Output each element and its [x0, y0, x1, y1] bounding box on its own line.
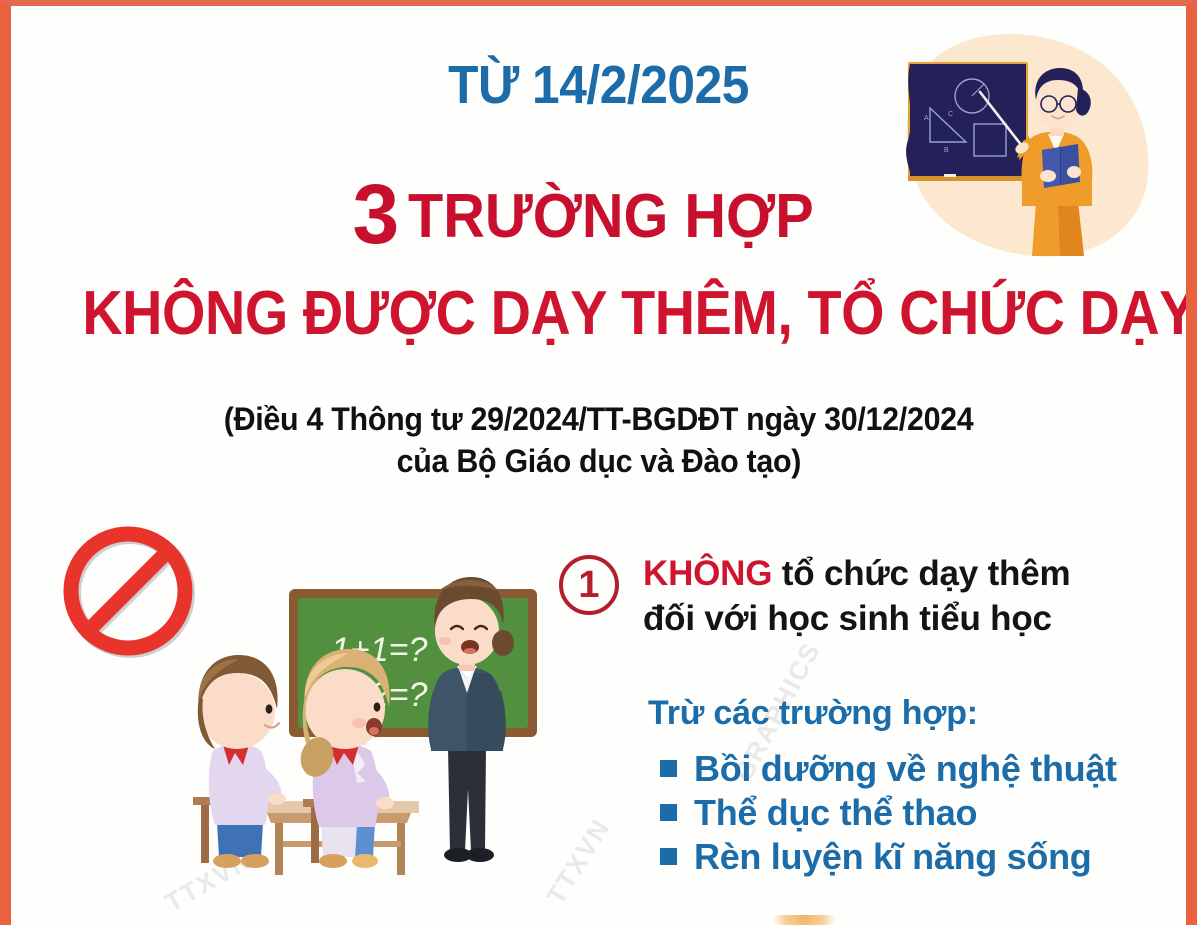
header-count-line: 3TRƯỜNG HỢP	[11, 166, 1186, 263]
header-subtitle-line1: (Điều 4 Thông tư 29/2024/TT-BGDĐT ngày 3…	[224, 398, 974, 440]
infographic-canvas: GRAPHICS TTXVN GRAPHICS TTXVN A C B	[11, 6, 1186, 925]
list-item: Thể dục thể thao	[660, 791, 1117, 835]
primary-classroom-illustration: 1+1=? 1+2=?	[171, 551, 561, 911]
square-bullet-icon	[660, 804, 677, 821]
page-title: KHÔNG ĐƯỢC DẠY THÊM, TỔ CHỨC DẠY THÊM	[11, 278, 1186, 349]
exceptions-list: Bồi dưỡng về nghệ thuật Thể dục thể thao…	[648, 747, 1117, 879]
board-label-b: B	[944, 147, 949, 154]
exceptions-title: Trừ các trường hợp:	[648, 694, 1117, 733]
next-section-peek	[773, 915, 835, 925]
rule-item-1-rest: tổ chức dạy thêm	[772, 554, 1070, 593]
rule-item-1-text: KHÔNG tổ chức dạy thêm đối với học sinh …	[643, 552, 1070, 642]
page-title-text: KHÔNG ĐƯỢC DẠY THÊM, TỔ CHỨC DẠY THÊM	[82, 278, 1197, 349]
header-count-number: 3	[353, 167, 399, 261]
square-bullet-icon	[660, 760, 677, 777]
list-item: Bồi dưỡng về nghệ thuật	[660, 747, 1117, 791]
rule-item-1-highlight: KHÔNG	[643, 554, 772, 593]
exception-label: Thể dục thể thao	[694, 791, 977, 835]
header-subtitle-line2: của Bộ Giáo dục và Đào tạo)	[396, 440, 800, 482]
header-date: TỪ 14/2/2025	[58, 54, 1139, 116]
rule-item-1-number: 1	[559, 555, 619, 615]
header-count-word: TRƯỜNG HỢP	[408, 181, 814, 252]
rule-item-1-row: 1 KHÔNG tổ chức dạy thêm đối với học sin…	[559, 552, 1159, 642]
header-subtitle: (Điều 4 Thông tư 29/2024/TT-BGDĐT ngày 3…	[11, 398, 1186, 482]
rule-item-1-line1: KHÔNG tổ chức dạy thêm	[643, 552, 1070, 597]
square-bullet-icon	[660, 848, 677, 865]
list-item: Rèn luyện kĩ năng sống	[660, 835, 1117, 879]
exception-label: Rèn luyện kĩ năng sống	[694, 835, 1091, 879]
rule-item-1-line2: đối với học sinh tiểu học	[643, 597, 1070, 642]
infographic-page: GRAPHICS TTXVN GRAPHICS TTXVN A C B	[0, 0, 1197, 925]
board-label-a: A	[924, 115, 929, 122]
exceptions-block: Trừ các trường hợp: Bồi dưỡng về nghệ th…	[648, 694, 1117, 879]
exception-label: Bồi dưỡng về nghệ thuật	[694, 747, 1117, 791]
rule-item-1: 1 KHÔNG tổ chức dạy thêm đối với học sin…	[559, 552, 1159, 642]
